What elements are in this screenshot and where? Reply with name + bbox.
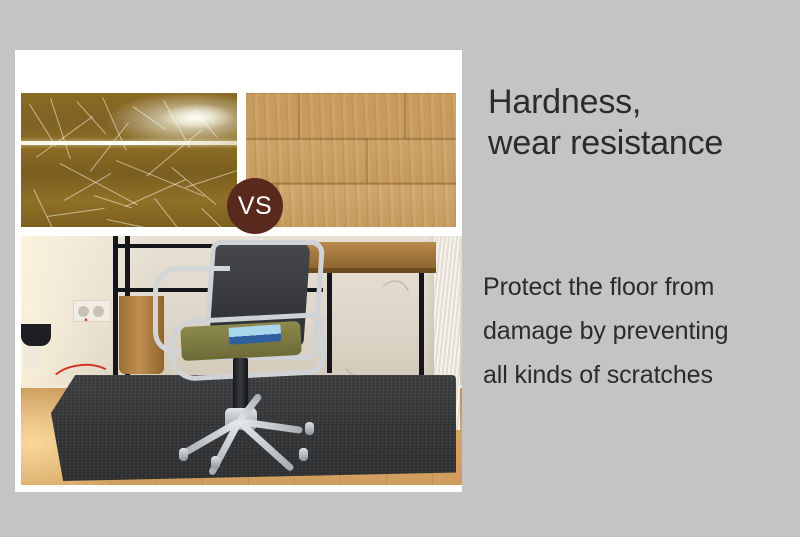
headline-line-2: wear resistance: [488, 123, 800, 164]
body-line-1: Protect the floor from: [483, 265, 798, 309]
room-photo: [21, 236, 462, 485]
side-table-base: [23, 346, 41, 368]
wall-socket: [73, 300, 111, 322]
chair-caster: [179, 448, 188, 461]
versus-badge-label: VS: [238, 192, 272, 221]
desk-leg: [419, 273, 424, 383]
image-card: VS: [15, 50, 462, 492]
book-on-seat: [228, 324, 281, 345]
scratched-floor-photo: [21, 93, 237, 227]
side-table: [21, 324, 51, 346]
body-copy: Protect the floor from damage by prevent…: [483, 265, 798, 397]
chair-caster: [299, 448, 308, 461]
versus-badge: VS: [227, 178, 283, 234]
headline: Hardness, wear resistance: [488, 82, 800, 164]
text-column: Hardness, wear resistance Protect the fl…: [480, 0, 800, 537]
body-line-2: damage by preventing: [483, 309, 798, 353]
headline-line-1: Hardness,: [488, 82, 800, 123]
chair-caster: [211, 456, 220, 469]
product-feature-banner: VS: [0, 0, 800, 537]
scratch-overlay: [21, 93, 237, 227]
body-line-3: all kinds of scratches: [483, 353, 798, 397]
chair-caster: [305, 422, 314, 435]
office-chair: [147, 240, 357, 472]
